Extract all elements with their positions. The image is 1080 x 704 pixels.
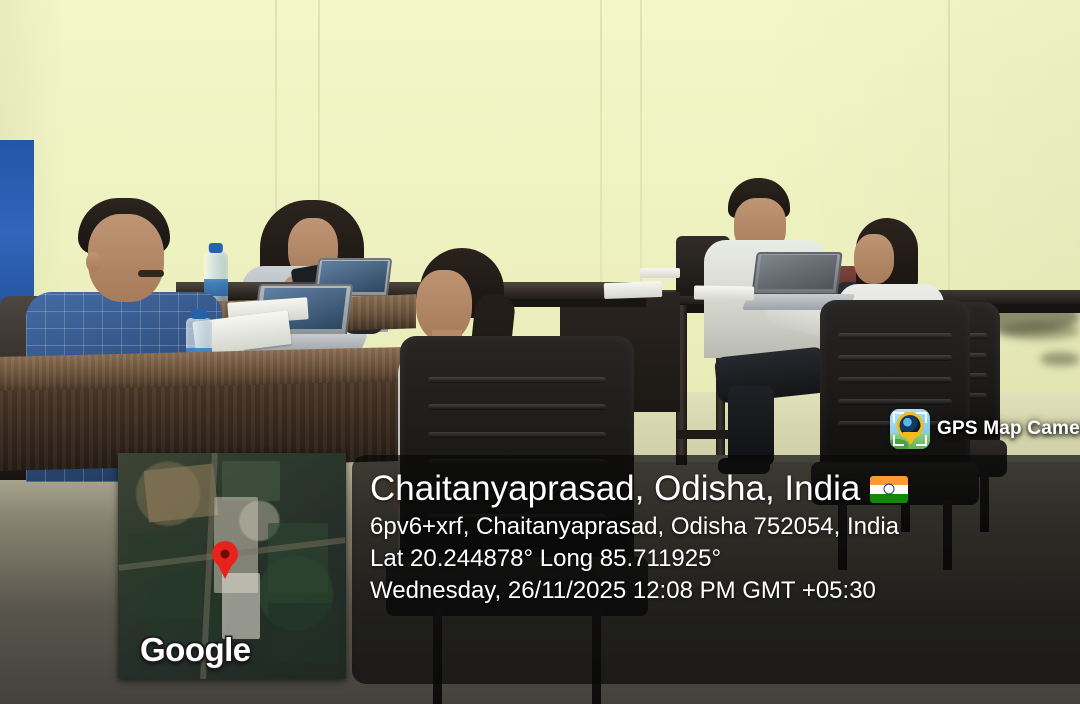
gps-app-label: GPS Map Camera [937,418,1080,440]
ashoka-chakra [884,484,895,495]
icon-bracket [916,435,927,446]
map-pin-icon [212,541,238,567]
map-thumbnail[interactable]: Google [118,453,346,679]
laptop-display [757,255,837,289]
location-coordinates: Lat 20.244878° Long 85.711925° [370,543,1070,575]
icon-bracket [916,412,927,423]
table-rail [676,430,728,439]
map-pin-hole [221,550,230,559]
map-parcel [222,573,260,639]
location-address: 6pv6+xrf, Chaitanyaprasad, Odisha 752054… [370,511,1070,543]
google-watermark: Google [140,631,251,669]
chair-slat [428,404,606,410]
paper-sheet [640,268,680,278]
wall-stain [1000,322,1080,340]
ear [86,252,101,272]
moustache [138,270,164,277]
map-parcel [143,463,218,522]
gps-map-camera-photo: GPS Map Camera Chaitanyaprasad, Odisha, … [0,0,1080,704]
chair-slat [838,377,952,383]
india-flag-icon [870,476,908,503]
chair-slat [838,355,952,361]
map-parcel [128,533,202,619]
leg [728,386,774,466]
laptop-screen [751,252,842,295]
location-datetime: Wednesday, 26/11/2025 12:08 PM GMT +05:3… [370,575,1070,607]
face [854,234,894,284]
gps-camera-pin-icon [890,409,930,449]
chair-slat [428,432,606,438]
wall-stain [1040,352,1080,366]
map-parcel [222,461,280,501]
location-title-row: Chaitanyaprasad, Odisha, India [370,467,1070,511]
map-parcel [268,603,338,663]
paper-sheet [604,281,663,299]
bottle-cap [191,309,207,319]
map-parcel [268,523,328,593]
location-info-panel: Chaitanyaprasad, Odisha, India 6pv6+xrf,… [352,455,1080,684]
chair-slat [428,377,606,383]
paper-sheet [694,285,754,300]
chair-slat [838,399,952,405]
icon-bracket [893,435,904,446]
gps-map-camera-watermark: GPS Map Camera [890,409,1080,449]
chair-slat [838,333,952,339]
icon-bracket [893,412,904,423]
location-title: Chaitanyaprasad, Odisha, India [370,467,860,511]
